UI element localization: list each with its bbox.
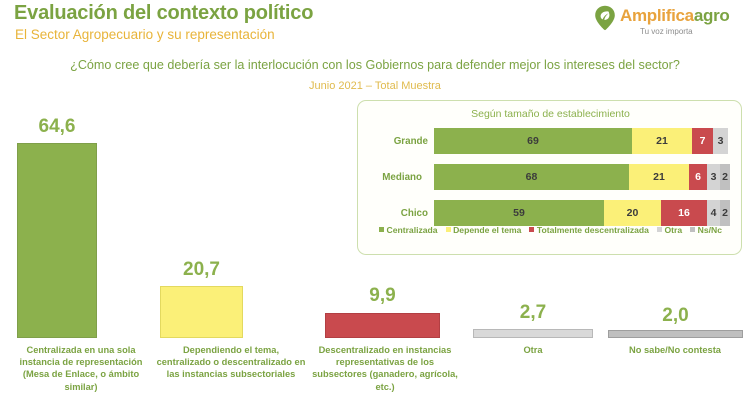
legend-label-otra: Otra bbox=[664, 225, 682, 235]
bar-label-1: Dependiendo el tema, centralizado o desc… bbox=[155, 344, 307, 381]
survey-question: ¿Cómo cree que debería ser la interlocuc… bbox=[0, 58, 750, 72]
bar-value-3: 2,7 bbox=[473, 302, 593, 324]
bar-value-0: 64,6 bbox=[17, 116, 97, 138]
page-title: Evaluación del contexto político bbox=[14, 2, 313, 25]
segment-grande-descentralizada[interactable]: 7 bbox=[692, 128, 713, 154]
bar-rect-descentralizado[interactable] bbox=[325, 313, 440, 338]
legend-label-descentralizada: Totalmente descentralizada bbox=[537, 225, 649, 235]
legend-label-nsnc: Ns/Nc bbox=[698, 225, 722, 235]
panel-row-label-grande: Grande bbox=[366, 136, 428, 147]
bar-rect-dependiendo[interactable] bbox=[160, 286, 243, 338]
legend-label-depende: Depende el tema bbox=[453, 225, 521, 235]
legend-item-descentralizada[interactable]: Totalmente descentralizada bbox=[529, 225, 649, 235]
legend-item-depende[interactable]: Depende el tema bbox=[446, 225, 522, 235]
bar-label-2: Descentralizado en instancias representa… bbox=[310, 344, 460, 393]
panel-legend: CentralizadaDepende el temaTotalmente de… bbox=[358, 225, 743, 235]
segment-mediano-otra[interactable]: 3 bbox=[707, 164, 720, 190]
segment-chico-depende[interactable]: 20 bbox=[604, 200, 661, 226]
legend-label-centralizada: Centralizada bbox=[386, 225, 437, 235]
legend-swatch-centralizada bbox=[379, 227, 384, 232]
bar-value-1: 20,7 bbox=[160, 259, 243, 281]
page-subtitle: El Sector Agropecuario y su representaci… bbox=[15, 27, 275, 42]
segment-mediano-depende[interactable]: 21 bbox=[629, 164, 689, 190]
segment-mediano-nsnc[interactable]: 2 bbox=[720, 164, 730, 190]
legend-swatch-descentralizada bbox=[529, 227, 534, 232]
segment-grande-depende[interactable]: 21 bbox=[632, 128, 692, 154]
survey-period: Junio 2021 – Total Muestra bbox=[0, 80, 750, 92]
segment-chico-nsnc[interactable]: 2 bbox=[720, 200, 730, 226]
panel-row-label-mediano: Mediano bbox=[360, 172, 422, 183]
bar-rect-otra[interactable] bbox=[473, 329, 593, 338]
bar-label-3: Otra bbox=[473, 344, 593, 356]
map-pin-leaf-icon bbox=[594, 5, 616, 31]
panel-row-label-chico: Chico bbox=[366, 208, 428, 219]
bar-rect-no-sabe[interactable] bbox=[608, 330, 743, 338]
legend-item-nsnc[interactable]: Ns/Nc bbox=[690, 225, 722, 235]
segment-grande-otra[interactable]: 3 bbox=[713, 128, 728, 154]
segment-grande-centralizada[interactable]: 69 bbox=[434, 128, 632, 154]
brand-logo: Amplificaagro Tu voz importa bbox=[594, 4, 742, 40]
segment-mediano-descentralizada[interactable]: 6 bbox=[689, 164, 707, 190]
segment-mediano-centralizada[interactable]: 68 bbox=[434, 164, 629, 190]
legend-swatch-nsnc bbox=[690, 227, 695, 232]
bar-rect-centralizada[interactable] bbox=[17, 143, 97, 338]
logo-wordmark: Amplificaagro bbox=[620, 6, 729, 26]
logo-word-first: Amplifica bbox=[620, 6, 694, 25]
panel-title: Según tamaño de establecimiento bbox=[358, 108, 743, 120]
breakdown-panel: Según tamaño de establecimiento Grande 6… bbox=[357, 100, 742, 255]
segment-chico-otra[interactable]: 4 bbox=[707, 200, 720, 226]
legend-swatch-depende bbox=[446, 227, 451, 232]
segment-chico-centralizada[interactable]: 59 bbox=[434, 200, 604, 226]
logo-tagline: Tu voz importa bbox=[640, 27, 693, 36]
legend-item-otra[interactable]: Otra bbox=[657, 225, 682, 235]
bar-label-0: Centralizada en una sola instancia de re… bbox=[8, 344, 154, 393]
legend-item-centralizada[interactable]: Centralizada bbox=[379, 225, 438, 235]
logo-word-second: agro bbox=[694, 6, 730, 25]
bar-value-2: 9,9 bbox=[325, 285, 440, 307]
bar-value-4: 2,0 bbox=[608, 305, 743, 327]
bar-label-4: No sabe/No contesta bbox=[600, 344, 750, 356]
segment-chico-descentralizada[interactable]: 16 bbox=[661, 200, 707, 226]
slide-canvas: Evaluación del contexto político El Sect… bbox=[0, 0, 750, 402]
legend-swatch-otra bbox=[657, 227, 662, 232]
